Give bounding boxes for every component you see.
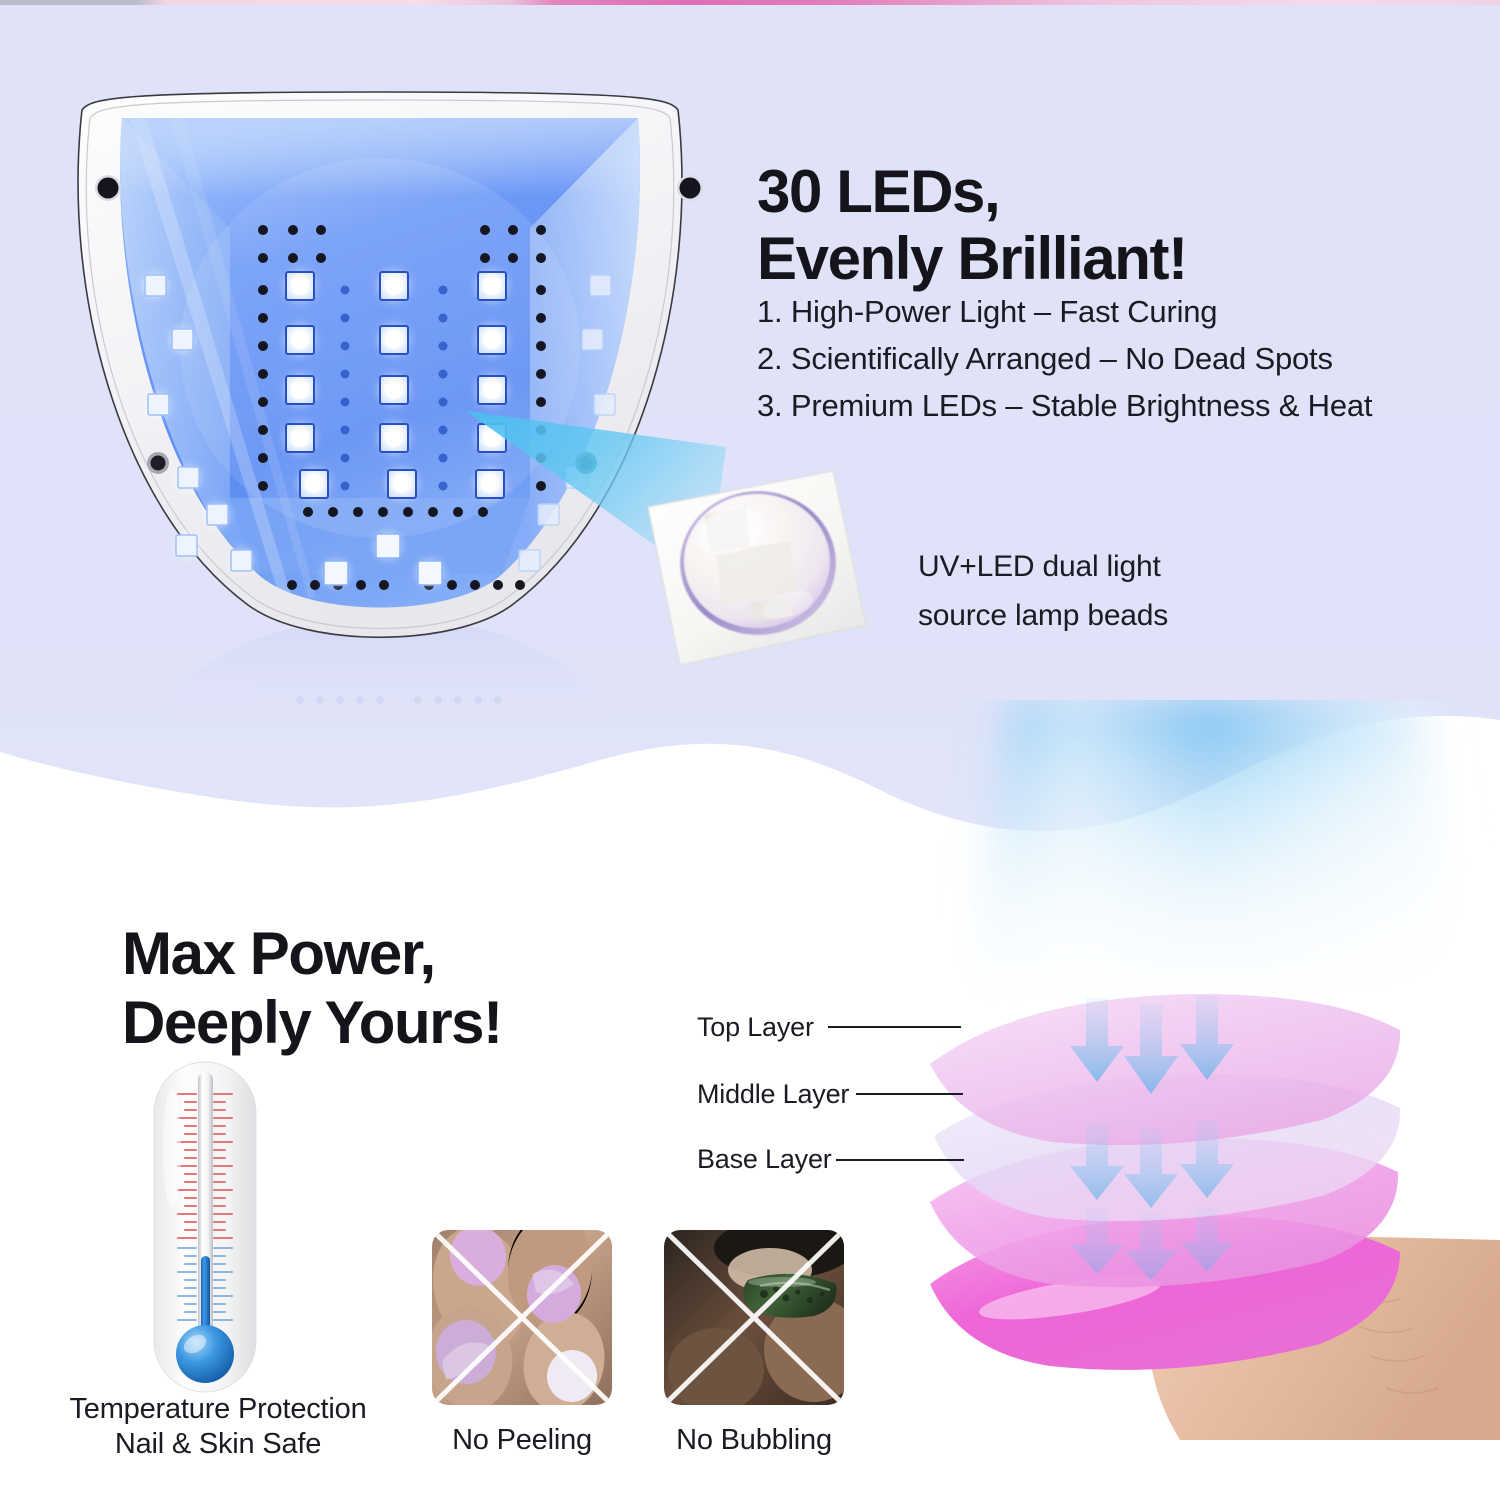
- label-middle-layer: Middle Layer: [697, 1079, 849, 1110]
- nail-layers-illustration: [900, 940, 1500, 1440]
- led-bead-closeup: [618, 455, 893, 700]
- leader-line-top-layer: [828, 1026, 961, 1028]
- thumbnail-caption-no-bubbling: No Bubbling: [644, 1424, 864, 1457]
- thermometer-icon: [132, 1058, 278, 1396]
- feature-item-3: 3. Premium LEDs – Stable Brightness & He…: [757, 382, 1497, 429]
- label-base-layer: Base Layer: [697, 1144, 832, 1175]
- feature-item-2: 2. Scientifically Arranged – No Dead Spo…: [757, 335, 1497, 382]
- label-top-layer: Top Layer: [697, 1012, 814, 1043]
- feature-list: 1. High-Power Light – Fast Curing 2. Sci…: [757, 288, 1497, 429]
- thumbnail-no-bubbling: [664, 1230, 844, 1405]
- top-accent-strip: [0, 0, 1500, 5]
- page-title-leds: 30 LEDs, Evenly Brilliant!: [757, 158, 1187, 292]
- leader-line-base-layer: [836, 1159, 964, 1161]
- bead-caption: UV+LED dual light source lamp beads: [918, 543, 1168, 640]
- infographic-page: 30 LEDs, Evenly Brilliant! 1. High-Power…: [0, 0, 1500, 1500]
- leader-line-middle-layer: [856, 1093, 963, 1095]
- feature-item-1: 1. High-Power Light – Fast Curing: [757, 288, 1497, 335]
- thermometer-caption: Temperature Protection Nail & Skin Safe: [48, 1392, 388, 1463]
- thumbnail-no-peeling: [432, 1230, 612, 1405]
- page-title-power: Max Power, Deeply Yours!: [122, 920, 502, 1057]
- thumbnail-caption-no-peeling: No Peeling: [412, 1424, 632, 1457]
